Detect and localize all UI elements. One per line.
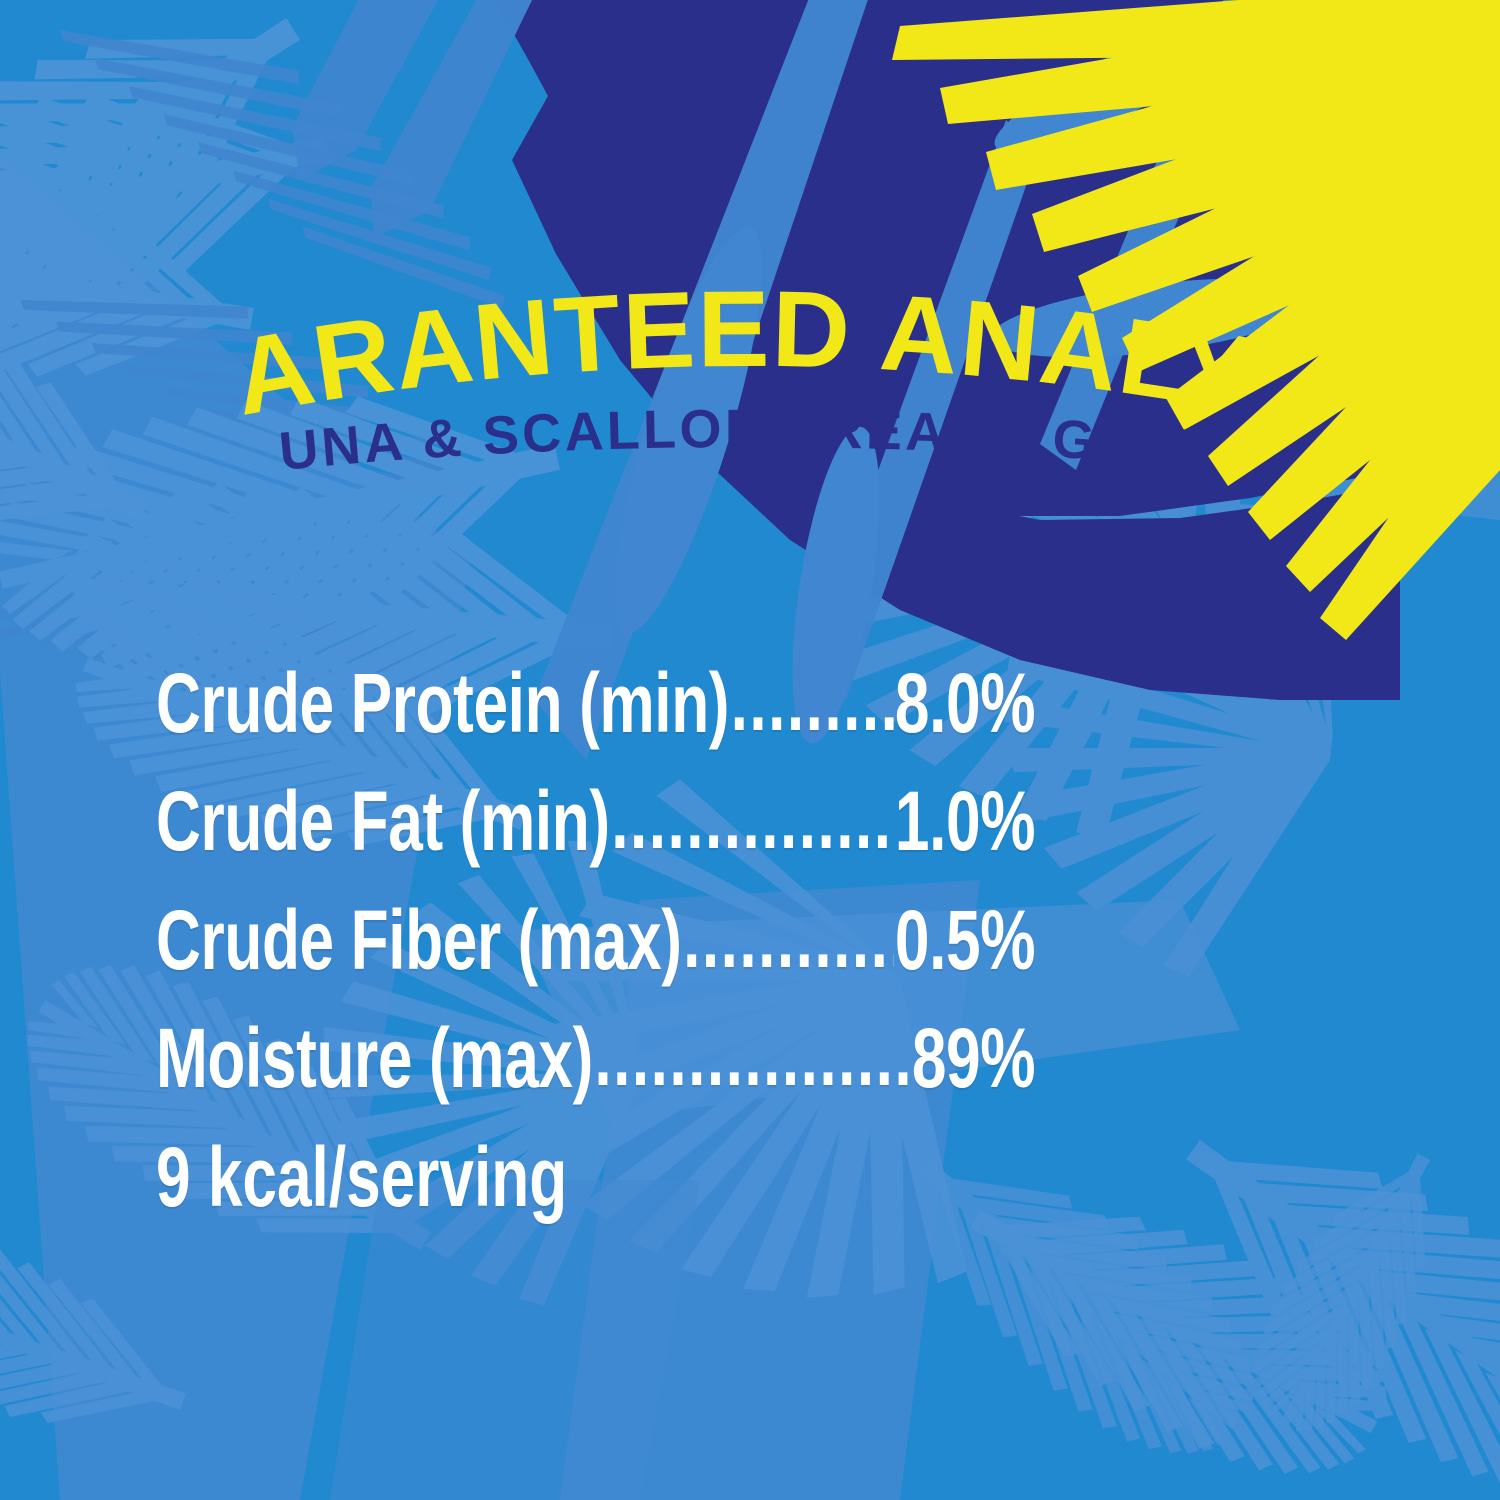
analysis-row: Crude Fat (min) 1.0% <box>156 780 1035 862</box>
analysis-row: Moisture (max) 89% <box>156 1017 1035 1099</box>
analysis-row: Crude Fiber (max) 0.5% <box>156 899 1035 981</box>
guaranteed-analysis-list: Crude Protein (min) 8.0% Crude Fat (min)… <box>0 662 1500 1219</box>
dot-leader <box>594 1015 910 1097</box>
dot-leader <box>731 660 894 742</box>
analysis-label: Crude Fiber (max) <box>156 899 682 981</box>
heading-block: GUARANTEED ANALYSIS TUNA & SCALLOP CREAM… <box>0 282 1500 482</box>
analysis-value: 89% <box>912 1017 1035 1099</box>
guaranteed-analysis-panel: GUARANTEED ANALYSIS TUNA & SCALLOP CREAM… <box>0 0 1500 1500</box>
analysis-value: 1.0% <box>895 780 1035 862</box>
analysis-row: Crude Protein (min) 8.0% <box>156 662 1035 744</box>
analysis-label: Crude Protein (min) <box>156 662 729 744</box>
analysis-label: Crude Fat (min) <box>156 780 610 862</box>
analysis-label: Moisture (max) <box>156 1017 593 1099</box>
calories-line: 9 kcal/serving <box>156 1135 1035 1219</box>
dot-leader <box>683 897 893 979</box>
dot-leader <box>611 778 893 860</box>
analysis-value: 8.0% <box>895 662 1035 744</box>
title-arch-svg: GUARANTEED ANALYSIS TUNA & SCALLOP CREAM… <box>240 282 1260 482</box>
analysis-value: 0.5% <box>895 899 1035 981</box>
